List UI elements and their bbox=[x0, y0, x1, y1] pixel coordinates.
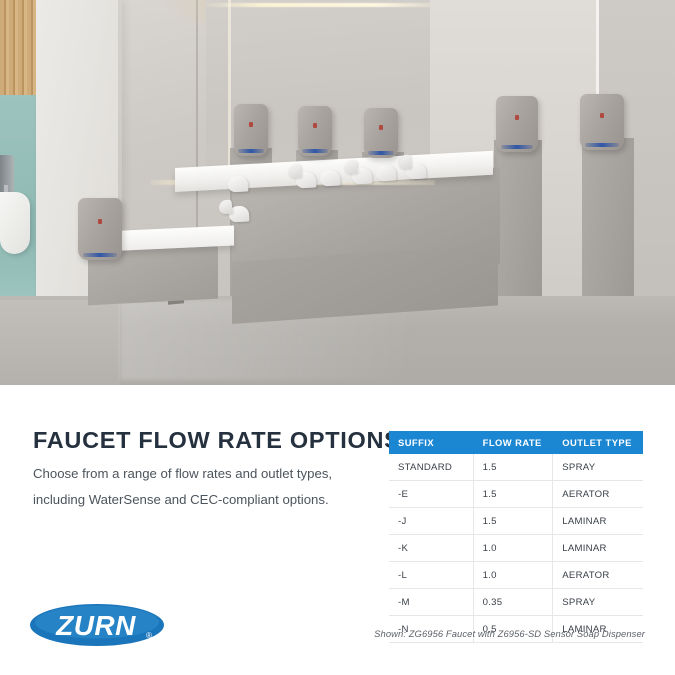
sensor-faucet bbox=[376, 164, 397, 181]
wood-slat-wall bbox=[0, 0, 38, 105]
column-header-suffix: SUFFIX bbox=[389, 431, 473, 454]
table-row: -E 1.5 AERATOR bbox=[389, 481, 643, 508]
table-row: STANDARD 1.5 SPRAY bbox=[389, 454, 643, 481]
cell-flow-rate: 1.5 bbox=[473, 454, 553, 481]
cell-suffix: -K bbox=[389, 535, 473, 562]
cell-suffix: -M bbox=[389, 589, 473, 616]
dryer-brand-mark bbox=[313, 123, 317, 128]
cell-flow-rate: 1.0 bbox=[473, 562, 553, 589]
dryer-brand-mark bbox=[379, 125, 383, 130]
product-sheet-page: FAUCET FLOW RATE OPTIONS Choose from a r… bbox=[0, 0, 675, 675]
soap-dispenser bbox=[288, 164, 302, 179]
flow-rate-table: SUFFIX FLOW RATE OUTLET TYPE STANDARD 1.… bbox=[389, 431, 643, 643]
page-title: FAUCET FLOW RATE OPTIONS bbox=[33, 427, 401, 454]
cell-flow-rate: 0.35 bbox=[473, 589, 553, 616]
hand-dryer-reflection bbox=[298, 106, 332, 156]
cell-flow-rate: 1.5 bbox=[473, 481, 553, 508]
dryer-brand-mark bbox=[249, 122, 253, 127]
table-row: -L 1.0 AERATOR bbox=[389, 562, 643, 589]
cell-suffix: -J bbox=[389, 508, 473, 535]
column-header-outlet-type: OUTLET TYPE bbox=[553, 431, 643, 454]
cell-flow-rate: 1.0 bbox=[473, 535, 553, 562]
dryer-brand-mark bbox=[600, 113, 604, 118]
ada-soap-dispenser bbox=[219, 200, 233, 215]
zurn-logo: ZURN ® bbox=[30, 600, 165, 650]
soap-dispenser bbox=[398, 155, 412, 170]
cell-outlet-type: AERATOR bbox=[553, 481, 643, 508]
hand-dryer bbox=[580, 94, 624, 150]
table-row: -M 0.35 SPRAY bbox=[389, 589, 643, 616]
table-row: -K 1.0 LAMINAR bbox=[389, 535, 643, 562]
hand-dryer bbox=[496, 96, 538, 152]
mirror-led-top-strip bbox=[206, 3, 432, 7]
cell-suffix: -E bbox=[389, 481, 473, 508]
page-subtitle: Choose from a range of flow rates and ou… bbox=[33, 461, 353, 513]
cell-outlet-type: SPRAY bbox=[553, 454, 643, 481]
subtitle-line-2: including WaterSense and CEC-compliant o… bbox=[33, 487, 353, 513]
dryer-brand-mark bbox=[515, 115, 519, 120]
zurn-wordmark: ZURN bbox=[55, 610, 136, 641]
hand-dryer-reflection bbox=[364, 108, 398, 158]
photo-caption: Shown: ZG6956 Faucet with Z6956-SD Senso… bbox=[355, 628, 645, 639]
cell-outlet-type: SPRAY bbox=[553, 589, 643, 616]
sensor-faucet bbox=[320, 169, 341, 186]
table-row: -J 1.5 LAMINAR bbox=[389, 508, 643, 535]
cell-outlet-type: LAMINAR bbox=[553, 535, 643, 562]
registered-mark-icon: ® bbox=[146, 631, 152, 640]
column-header-flow-rate: FLOW RATE bbox=[473, 431, 553, 454]
soap-dispenser bbox=[344, 160, 358, 175]
urinal-fixture bbox=[0, 192, 30, 254]
restroom-hero-photo bbox=[0, 0, 675, 385]
hand-dryer bbox=[78, 198, 122, 260]
cell-outlet-type: LAMINAR bbox=[553, 508, 643, 535]
hand-dryer-reflection bbox=[234, 104, 268, 156]
subtitle-line-1: Choose from a range of flow rates and ou… bbox=[33, 461, 353, 487]
dryer-brand-mark bbox=[98, 219, 102, 224]
cell-outlet-type: AERATOR bbox=[553, 562, 643, 589]
table-header-row: SUFFIX FLOW RATE OUTLET TYPE bbox=[389, 431, 643, 454]
cell-suffix: STANDARD bbox=[389, 454, 473, 481]
cell-suffix: -L bbox=[389, 562, 473, 589]
sensor-faucet bbox=[228, 175, 249, 192]
restroom-floor-left bbox=[0, 300, 120, 385]
cell-flow-rate: 1.5 bbox=[473, 508, 553, 535]
